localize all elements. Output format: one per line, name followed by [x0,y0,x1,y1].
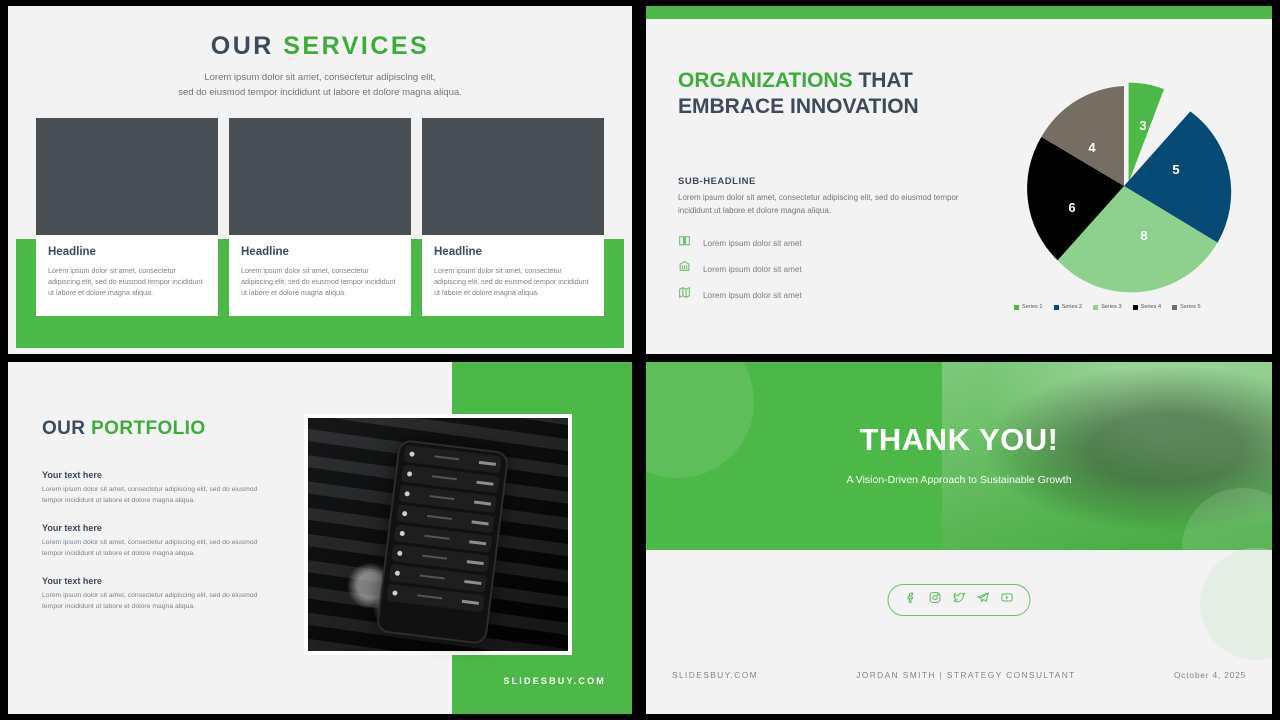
slide-organizations-innovation[interactable]: ORGANIZATIONS THAT EMBRACE INNOVATION SU… [646,6,1272,354]
youtube-icon[interactable] [1001,591,1014,609]
service-card-body: Headline Lorem ipsum dolor sit amet, con… [229,235,411,316]
subtitle: Lorem ipsum dolor sit amet, consectetur … [128,70,512,100]
legend-label: Series 1 [1022,304,1043,310]
instagram-icon[interactable] [929,591,942,609]
portfolio-text-blocks: Your text here Lorem ipsum dolor sit ame… [42,470,264,629]
legend-label: Series 5 [1180,304,1201,310]
service-card-headline: Headline [48,246,206,258]
slide-footer: SLIDESBUY.COM JORDAN SMITH | STRATEGY CO… [672,670,1246,680]
bullet-list: Lorem ipsum dolor sit amet Lorem ipsum d… [678,230,998,308]
service-card-list: Headline Lorem ipsum dolor sit amet, con… [36,118,604,316]
service-card-body: Headline Lorem ipsum dolor sit amet, con… [36,235,218,316]
legend-label: Series 2 [1062,304,1083,310]
list-item-label: Lorem ipsum dolor sit amet [703,265,802,274]
telegram-icon[interactable] [977,591,990,609]
facebook-icon[interactable] [905,591,918,609]
folded-map-icon [678,286,691,304]
service-card-headline: Headline [241,246,399,258]
pie-label-series-5: 4 [1088,140,1096,155]
title-word-our: OUR [211,32,284,60]
social-links-pill [888,584,1031,616]
heading-word-organizations: ORGANIZATIONS [678,69,853,92]
tagline: A Vision-Driven Approach to Sustainable … [646,474,1272,486]
page-title: THANK YOU! [646,422,1272,458]
service-card-headline: Headline [434,246,592,258]
vr-headset-sky-photo [422,118,604,235]
portfolio-block[interactable]: Your text here Lorem ipsum dolor sit ame… [42,470,264,506]
subtitle-line-2: sed do eiusmod tempor incididunt ut labo… [128,85,512,100]
pie-chart[interactable]: 3 5 8 6 4 [1004,70,1244,302]
portfolio-block-heading: Your text here [42,523,264,533]
pie-label-series-2: 5 [1172,162,1179,177]
portfolio-block[interactable]: Your text here Lorem ipsum dolor sit ame… [42,576,264,612]
legend-item-series-1[interactable]: Series 1 [1014,304,1043,310]
decorative-circle [1200,548,1272,660]
slide-deck-overview: OUR SERVICES Lorem ipsum dolor sit amet,… [0,0,1280,720]
footer-website[interactable]: SLIDESBUY.COM [672,670,758,680]
service-card[interactable]: Headline Lorem ipsum dolor sit amet, con… [229,118,411,316]
slide-our-portfolio[interactable]: OUR PORTFOLIO Your text here Lorem ipsum… [8,362,632,714]
pie-label-series-4: 6 [1068,200,1075,215]
page-title: OUR SERVICES [8,32,632,61]
subtitle-line-1: Lorem ipsum dolor sit amet, consectetur … [128,70,512,85]
list-item[interactable]: Lorem ipsum dolor sit amet [678,256,998,282]
chart-legend: Series 1 Series 2 Series 3 Series 4 Seri… [1014,304,1201,310]
title-word-our: OUR [42,418,91,439]
heading-word-that: THAT [853,69,913,92]
twitter-icon[interactable] [953,591,966,609]
portfolio-block-text: Lorem ipsum dolor sit amet, consectetur … [42,591,264,612]
page-title: OUR PORTFOLIO [42,418,206,440]
heading-line-2: EMBRACE INNOVATION [678,95,919,118]
body-paragraph: Lorem ipsum dolor sit amet, consectetur … [678,192,988,217]
legend-item-series-5[interactable]: Series 5 [1172,304,1201,310]
service-card[interactable]: Headline Lorem ipsum dolor sit amet, con… [422,118,604,316]
title-word-portfolio: PORTFOLIO [91,418,205,439]
list-item-label: Lorem ipsum dolor sit amet [703,291,802,300]
legend-item-series-4[interactable]: Series 4 [1133,304,1162,310]
open-book-icon [678,234,691,252]
service-card-text: Lorem ipsum dolor sit amet, consectetur … [48,265,206,298]
list-item[interactable]: Lorem ipsum dolor sit amet [678,282,998,308]
service-card-text: Lorem ipsum dolor sit amet, consectetur … [241,265,399,298]
service-card-body: Headline Lorem ipsum dolor sit amet, con… [422,235,604,316]
list-item[interactable]: Lorem ipsum dolor sit amet [678,230,998,256]
network-cables-photo [36,118,218,235]
legend-item-series-2[interactable]: Series 2 [1054,304,1083,310]
pie-label-series-1: 3 [1139,118,1146,133]
portfolio-block-text: Lorem ipsum dolor sit amet, consectetur … [42,485,264,506]
legend-item-series-3[interactable]: Series 3 [1093,304,1122,310]
title-word-services: SERVICES [283,32,429,60]
legend-label: Series 4 [1141,304,1162,310]
slide-our-services[interactable]: OUR SERVICES Lorem ipsum dolor sit amet,… [8,6,632,354]
legend-label: Series 3 [1101,304,1122,310]
phone-mockup [376,439,510,645]
footer-presenter: JORDAN SMITH | STRATEGY CONSULTANT [856,670,1075,680]
portfolio-block-heading: Your text here [42,470,264,480]
pie-label-series-3: 8 [1140,228,1147,243]
portfolio-block[interactable]: Your text here Lorem ipsum dolor sit ame… [42,523,264,559]
green-top-bar [646,6,1272,19]
service-card[interactable]: Headline Lorem ipsum dolor sit amet, con… [36,118,218,316]
service-card-text: Lorem ipsum dolor sit amet, consectetur … [434,265,592,298]
list-item-label: Lorem ipsum dolor sit amet [703,239,802,248]
footer-date: October 4, 2025 [1174,670,1246,680]
portfolio-block-heading: Your text here [42,576,264,586]
brand-watermark: SLIDESBUY.COM [503,676,606,686]
decorative-circle [646,362,754,478]
slide-thank-you[interactable]: THANK YOU! A Vision-Driven Approach to S… [646,362,1272,714]
portfolio-image-frame [304,414,572,655]
sub-headline: SUB-HEADLINE [678,176,756,187]
portfolio-block-text: Lorem ipsum dolor sit amet, consectetur … [42,538,264,559]
bank-building-icon [678,260,691,278]
crypto-phone-photo [308,418,568,651]
laptop-code-photo [229,118,411,235]
page-title: ORGANIZATIONS THAT EMBRACE INNOVATION [678,68,1008,120]
